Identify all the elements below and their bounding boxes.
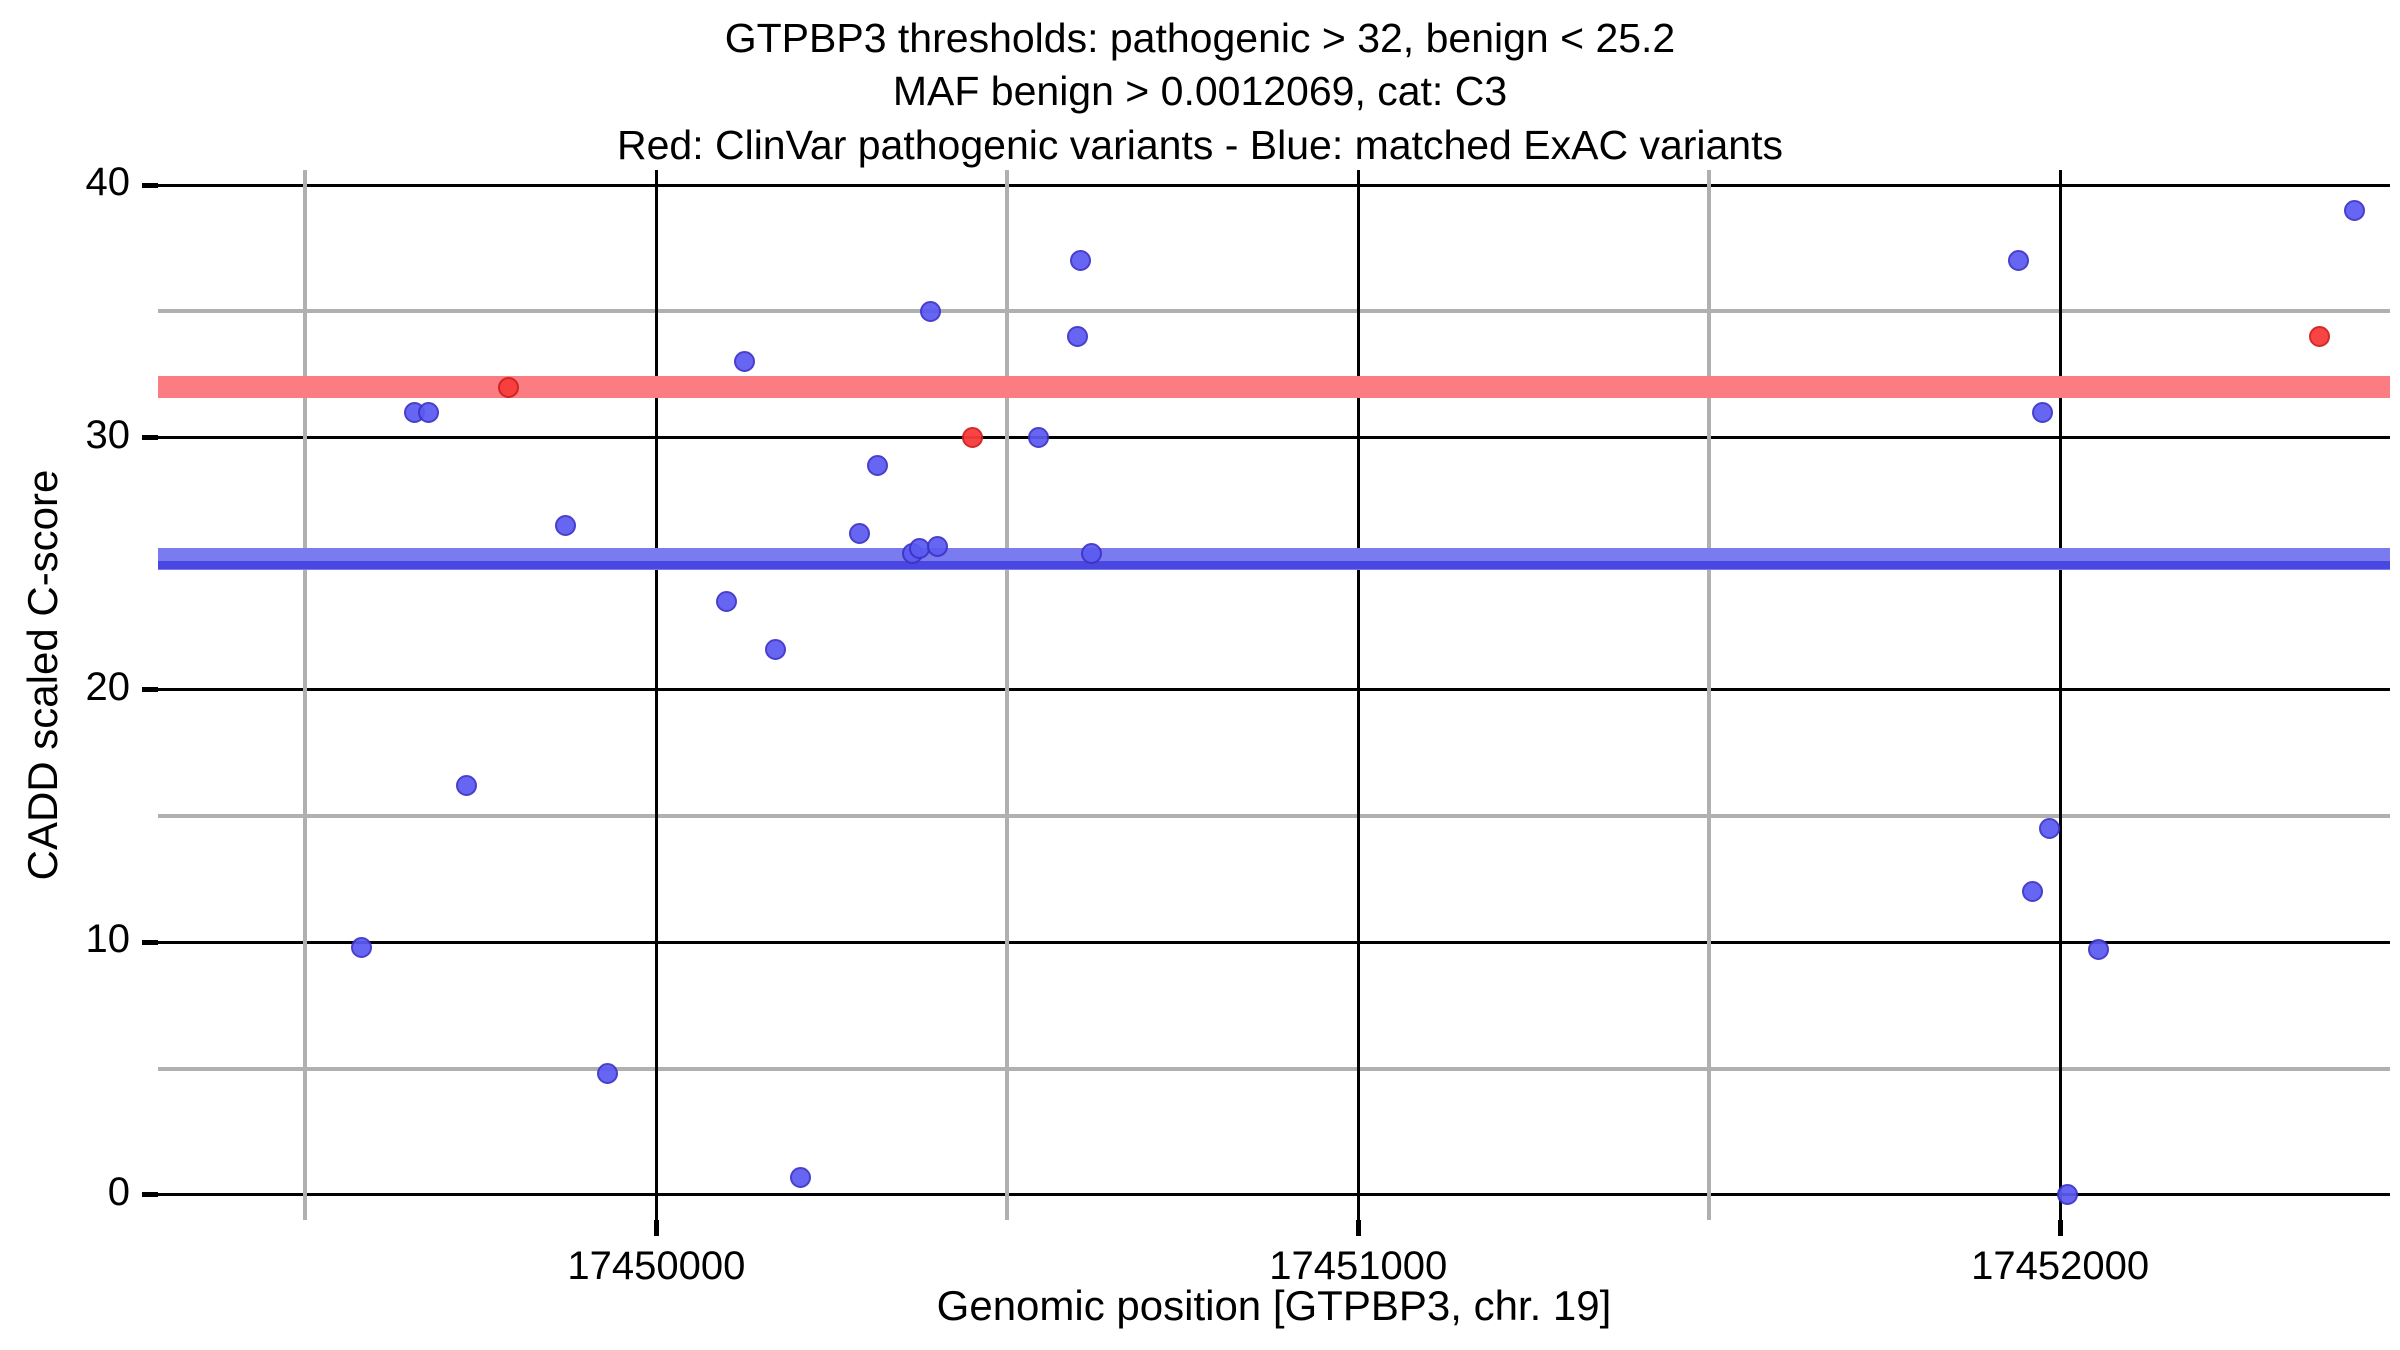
benign-data-point	[1067, 326, 1088, 347]
chart-title-line-3: Red: ClinVar pathogenic variants - Blue:…	[0, 119, 2400, 172]
gridline-x-17451000	[1357, 170, 1360, 1220]
benign-data-point	[418, 402, 439, 423]
benign-data-point	[1070, 250, 1091, 271]
benign-data-point	[2039, 818, 2060, 839]
benign-data-point	[867, 455, 888, 476]
y-tick-mark-30	[142, 435, 158, 440]
y-tick-mark-40	[142, 183, 158, 188]
benign-data-point	[555, 515, 576, 536]
benign-data-point	[597, 1063, 618, 1084]
x-tick-mark-17452000	[2058, 1220, 2063, 1236]
x-tick-label-17451000: 17451000	[1208, 1244, 1508, 1289]
gridline-x-17452000	[2059, 170, 2062, 1220]
gridline-y-30	[158, 436, 2390, 439]
benign-data-point	[765, 639, 786, 660]
gridline-y-10	[158, 941, 2390, 944]
threshold-band-pathogenic	[158, 376, 2390, 398]
benign-data-point	[2022, 881, 2043, 902]
gridline-x-17451500	[1707, 170, 1711, 1220]
pathogenic-data-point	[962, 427, 983, 448]
gridline-y-0	[158, 1193, 2390, 1196]
gridline-y-20	[158, 688, 2390, 691]
y-tick-label-40: 40	[10, 160, 130, 205]
gridline-y-35	[158, 309, 2390, 313]
x-tick-label-17452000: 17452000	[1910, 1244, 2210, 1289]
y-tick-label-0: 0	[10, 1170, 130, 1215]
y-tick-mark-20	[142, 687, 158, 692]
x-tick-mark-17451000	[1356, 1220, 1361, 1236]
benign-data-point	[790, 1167, 811, 1188]
benign-data-point	[927, 536, 948, 557]
benign-data-point	[2344, 200, 2365, 221]
benign-data-point	[2008, 250, 2029, 271]
scatter-plot-figure: GTPBP3 thresholds: pathogenic > 32, beni…	[0, 0, 2400, 1350]
chart-title-block: GTPBP3 thresholds: pathogenic > 32, beni…	[0, 12, 2400, 172]
gridline-y-40	[158, 184, 2390, 187]
benign-data-point	[849, 523, 870, 544]
benign-data-point	[1028, 427, 1049, 448]
benign-data-point	[456, 775, 477, 796]
y-tick-mark-0	[142, 1192, 158, 1197]
chart-title-line-2: MAF benign > 0.0012069, cat: C3	[0, 65, 2400, 118]
gridline-x-17450000	[655, 170, 658, 1220]
benign-data-point	[2057, 1184, 2078, 1205]
x-tick-mark-17450000	[654, 1220, 659, 1236]
gridline-x-17449500	[303, 170, 307, 1220]
threshold-band-benign-core	[158, 561, 2390, 569]
pathogenic-data-point	[2309, 326, 2330, 347]
benign-data-point	[2032, 402, 2053, 423]
gridline-x-17450500	[1005, 170, 1009, 1220]
benign-data-point	[920, 301, 941, 322]
x-axis-title: Genomic position [GTPBP3, chr. 19]	[158, 1282, 2390, 1330]
gridline-y-5	[158, 1067, 2390, 1071]
y-tick-mark-10	[142, 940, 158, 945]
y-tick-label-10: 10	[10, 917, 130, 962]
y-tick-label-30: 30	[10, 413, 130, 458]
gridline-y-15	[158, 814, 2390, 818]
plot-panel	[158, 170, 2390, 1220]
benign-data-point	[2088, 939, 2109, 960]
benign-data-point	[351, 937, 372, 958]
pathogenic-data-point	[498, 377, 519, 398]
benign-data-point	[734, 351, 755, 372]
benign-data-point	[716, 591, 737, 612]
benign-data-point	[1081, 543, 1102, 564]
y-tick-label-20: 20	[10, 665, 130, 710]
chart-title-line-1: GTPBP3 thresholds: pathogenic > 32, beni…	[0, 12, 2400, 65]
x-tick-label-17450000: 17450000	[506, 1244, 806, 1289]
